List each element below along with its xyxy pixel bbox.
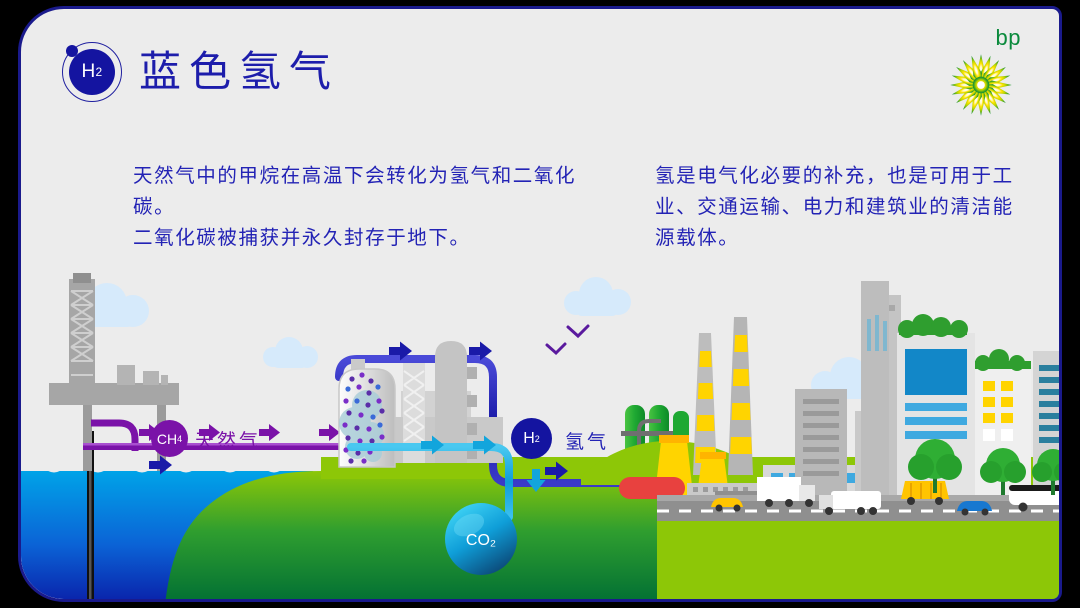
page-title: 蓝色氢气 <box>139 43 339 101</box>
hydrogen-badge: H2 <box>511 418 552 459</box>
hydrogen-label: 氢气 <box>565 427 609 454</box>
residential-buildings <box>861 281 889 495</box>
slide: H2 蓝色氢气 bp <box>0 0 1080 608</box>
h2-atom-icon: H2 <box>59 39 125 105</box>
co2-sphere-label: CO₂ <box>466 532 496 549</box>
process-diagram: CO₂ CH4 天然气 H2 氢气 <box>21 271 1062 602</box>
methane-badge-sub: 4 <box>177 434 182 444</box>
hydrogen-badge-sub: 2 <box>535 434 540 444</box>
atom-nucleus: H2 <box>69 49 115 95</box>
hydrogen-badge-text: H <box>523 430 535 448</box>
bp-helios-icon <box>949 53 1013 117</box>
right-paragraph: 氢是电气化必要的补充，也是可用于工业、交通运输、电力和建筑业的清洁能源载体。 <box>655 161 1025 254</box>
methane-label: 天然气 <box>195 426 261 453</box>
slide-card: H2 蓝色氢气 bp <box>18 6 1062 602</box>
bp-wordmark: bp <box>996 25 1021 51</box>
atom-formula-sub: 2 <box>96 65 103 79</box>
bp-logo: bp <box>945 25 1023 117</box>
methane-badge-text: CH <box>157 431 177 447</box>
left-paragraph: 天然气中的甲烷在高温下会转化为氢气和二氧化碳。 二氧化碳被捕获并永久封存于地下。 <box>133 161 603 254</box>
atom-formula: H <box>81 61 95 83</box>
methane-badge: CH4 <box>151 420 188 457</box>
